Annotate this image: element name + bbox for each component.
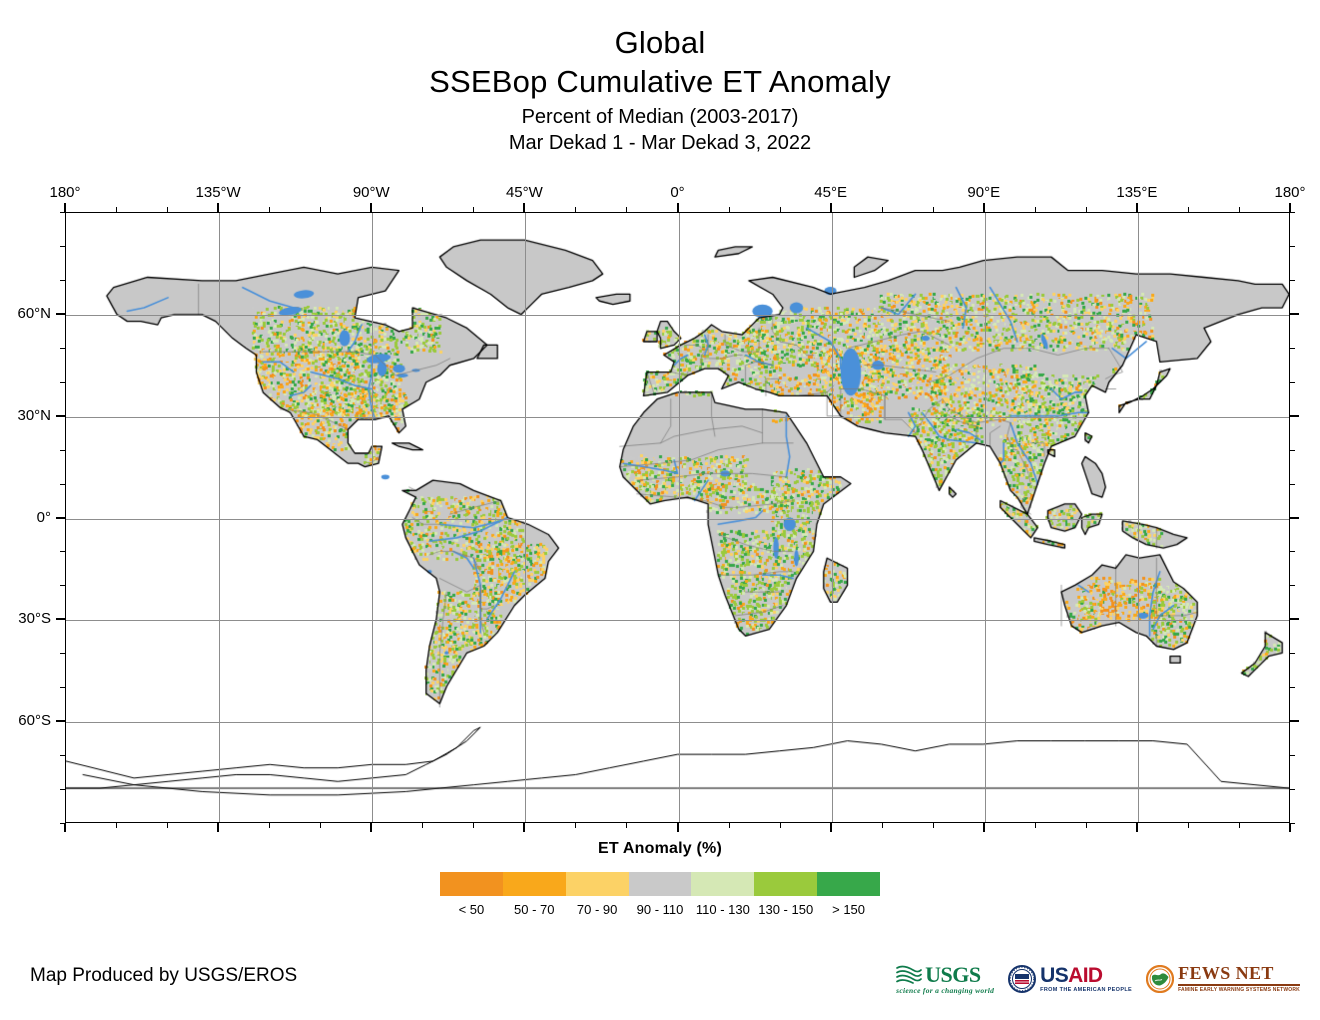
axis-tick-minor [1290, 280, 1295, 281]
longitude-label-5: 45°E [814, 185, 847, 201]
legend-label-2: 70 - 90 [566, 902, 629, 917]
page-subtitle-line1: Percent of Median (2003-2017) [0, 104, 1320, 130]
axis-tick-minor [729, 207, 730, 212]
axis-tick-minor [60, 246, 65, 247]
axis-tick-major [983, 203, 985, 212]
axis-tick-minor [1290, 484, 1295, 485]
axis-tick-major [830, 823, 832, 832]
legend-title: ET Anomaly (%) [0, 840, 1320, 858]
usaid-tagline: FROM THE AMERICAN PEOPLE [1040, 987, 1132, 994]
axis-tick-minor [882, 823, 883, 828]
legend-swatch-0 [440, 872, 503, 896]
legend-label-1: 50 - 70 [503, 902, 566, 917]
axis-tick-major [1290, 720, 1299, 722]
longitude-label-2: 90°W [353, 185, 390, 201]
axis-tick-minor [1290, 823, 1295, 824]
longitude-label-3: 45°W [506, 185, 543, 201]
axis-tick-major [1290, 517, 1299, 519]
longitude-label-4: 0° [670, 185, 684, 201]
axis-tick-major [370, 823, 372, 832]
axis-tick-minor [60, 551, 65, 552]
graticule-parallel [66, 519, 1289, 520]
axis-tick-major [56, 517, 65, 519]
axis-tick-minor [60, 653, 65, 654]
map-raster [66, 213, 1289, 822]
axis-tick-major [217, 203, 219, 212]
axis-tick-minor [729, 823, 730, 828]
axis-tick-minor [1188, 823, 1189, 828]
axis-tick-minor [60, 484, 65, 485]
fews-net-tagline: FAMINE EARLY WARNING SYSTEMS NETWORK [1178, 987, 1300, 994]
latitude-label-3: 30°S [18, 611, 51, 627]
axis-tick-minor [1290, 348, 1295, 349]
map-credit: Map Produced by USGS/EROS [30, 964, 297, 988]
legend-label-5: 130 - 150 [754, 902, 817, 917]
axis-tick-minor [575, 207, 576, 212]
graticule-meridian [525, 213, 526, 822]
axis-tick-minor [167, 823, 168, 828]
page-subtitle-line2: Mar Dekad 1 - Mar Dekad 3, 2022 [0, 130, 1320, 156]
page-title-line2: SSEBop Cumulative ET Anomaly [0, 62, 1320, 102]
axis-tick-major [830, 203, 832, 212]
axis-tick-minor [473, 823, 474, 828]
longitude-label-7: 135°E [1116, 185, 1157, 201]
axis-tick-major [523, 823, 525, 832]
axis-tick-major [983, 823, 985, 832]
legend: ET Anomaly (%) < 5050 - 7070 - 9090 - 11… [0, 840, 1320, 917]
fews-net-rule [1178, 984, 1300, 986]
axis-tick-minor [116, 207, 117, 212]
axis-tick-minor [1290, 382, 1295, 383]
axis-tick-major [1290, 618, 1299, 620]
axis-tick-minor [882, 207, 883, 212]
axis-tick-minor [1086, 823, 1087, 828]
map-container[interactable]: 180°135°W90°W45°W0°45°E90°E135°E180° 60°… [65, 212, 1290, 823]
fews-net-logo: FEWS NET FAMINE EARLY WARNING SYSTEMS NE… [1146, 964, 1300, 994]
graticule-parallel [66, 620, 1289, 621]
legend-swatch-3 [629, 872, 692, 896]
usaid-wordmark-aid: AID [1068, 964, 1102, 987]
axis-tick-minor [1290, 755, 1295, 756]
axis-tick-major [1289, 823, 1291, 832]
graticule-meridian [1138, 213, 1139, 822]
axis-tick-minor [60, 789, 65, 790]
map-frame[interactable] [65, 212, 1290, 823]
legend-label-0: < 50 [440, 902, 503, 917]
axis-tick-minor [1290, 789, 1295, 790]
axis-tick-minor [780, 207, 781, 212]
axis-tick-minor [60, 755, 65, 756]
axis-tick-minor [60, 348, 65, 349]
axis-tick-minor [167, 207, 168, 212]
axis-tick-minor [422, 823, 423, 828]
latitude-label-2: 0° [37, 510, 51, 526]
graticule-parallel [66, 722, 1289, 723]
latitude-label-4: 60°S [18, 713, 51, 729]
usaid-logo: USAID FROM THE AMERICAN PEOPLE [1008, 965, 1132, 994]
graticule-parallel [66, 315, 1289, 316]
axis-tick-minor [269, 823, 270, 828]
axis-tick-minor [60, 280, 65, 281]
latitude-label-0: 60°N [17, 306, 51, 322]
axis-tick-minor [320, 207, 321, 212]
axis-tick-minor [575, 823, 576, 828]
axis-tick-minor [626, 823, 627, 828]
usgs-tagline: science for a changing world [896, 986, 994, 995]
axis-tick-minor [1290, 212, 1295, 213]
legend-swatch-2 [566, 872, 629, 896]
graticule-meridian [679, 213, 680, 822]
axis-tick-major [1136, 823, 1138, 832]
usgs-logo: USGS science for a changing world [896, 964, 994, 995]
usgs-wave-icon [896, 964, 922, 985]
legend-label-6: > 150 [817, 902, 880, 917]
axis-tick-major [64, 823, 66, 832]
axis-tick-minor [626, 207, 627, 212]
axis-tick-major [56, 313, 65, 315]
graticule-parallel [66, 417, 1289, 418]
axis-tick-minor [473, 207, 474, 212]
usgs-wordmark: USGS [925, 964, 980, 985]
axis-tick-minor [60, 450, 65, 451]
usaid-wordmark-us: US [1040, 964, 1068, 987]
axis-tick-major [370, 203, 372, 212]
axis-tick-major [217, 823, 219, 832]
graticule-meridian [372, 213, 373, 822]
axis-tick-minor [933, 823, 934, 828]
longitude-label-6: 90°E [967, 185, 1000, 201]
axis-tick-minor [1290, 551, 1295, 552]
axis-tick-minor [1035, 823, 1036, 828]
title-block: Global SSEBop Cumulative ET Anomaly Perc… [0, 24, 1320, 156]
latitude-label-1: 30°N [17, 408, 51, 424]
axis-tick-minor [1035, 207, 1036, 212]
legend-label-4: 110 - 130 [691, 902, 754, 917]
axis-tick-minor [1239, 823, 1240, 828]
legend-swatch-5 [754, 872, 817, 896]
graticule-meridian [219, 213, 220, 822]
page-title-line1: Global [0, 24, 1320, 62]
legend-color-bar [440, 872, 880, 896]
axis-tick-minor [780, 823, 781, 828]
usaid-seal-icon [1008, 965, 1036, 993]
legend-swatch-6 [817, 872, 880, 896]
axis-tick-minor [320, 823, 321, 828]
longitude-label-8: 180° [1274, 185, 1305, 201]
legend-swatch-1 [503, 872, 566, 896]
axis-tick-minor [1239, 207, 1240, 212]
legend-label-3: 90 - 110 [629, 902, 692, 917]
fews-net-wordmark: FEWS NET [1178, 964, 1274, 983]
axis-tick-minor [116, 823, 117, 828]
fews-net-globe-icon [1146, 965, 1174, 993]
legend-swatch-4 [691, 872, 754, 896]
axis-tick-minor [60, 823, 65, 824]
axis-tick-major [56, 720, 65, 722]
axis-tick-major [677, 203, 679, 212]
legend-class-labels: < 5050 - 7070 - 9090 - 110110 - 130130 -… [440, 902, 880, 917]
axis-tick-minor [60, 382, 65, 383]
axis-tick-major [1290, 415, 1299, 417]
axis-tick-major [56, 415, 65, 417]
axis-tick-minor [60, 687, 65, 688]
graticule-meridian [832, 213, 833, 822]
logo-strip: USGS science for a changing world USAID [896, 955, 1300, 1003]
axis-tick-major [523, 203, 525, 212]
axis-tick-minor [1290, 653, 1295, 654]
axis-tick-minor [60, 212, 65, 213]
axis-tick-major [1290, 313, 1299, 315]
graticule-meridian [985, 213, 986, 822]
axis-tick-minor [933, 207, 934, 212]
axis-tick-minor [1290, 687, 1295, 688]
axis-tick-minor [1290, 246, 1295, 247]
axis-tick-minor [422, 207, 423, 212]
axis-tick-minor [1086, 207, 1087, 212]
axis-tick-major [56, 618, 65, 620]
axis-tick-major [1289, 203, 1291, 212]
axis-tick-major [677, 823, 679, 832]
longitude-label-1: 135°W [196, 185, 241, 201]
axis-tick-major [64, 203, 66, 212]
map-page: Global SSEBop Cumulative ET Anomaly Perc… [0, 0, 1320, 1020]
axis-tick-major [1136, 203, 1138, 212]
axis-tick-minor [1290, 585, 1295, 586]
axis-tick-minor [60, 585, 65, 586]
axis-tick-minor [1188, 207, 1189, 212]
axis-tick-minor [1290, 450, 1295, 451]
longitude-label-0: 180° [49, 185, 80, 201]
axis-tick-minor [269, 207, 270, 212]
